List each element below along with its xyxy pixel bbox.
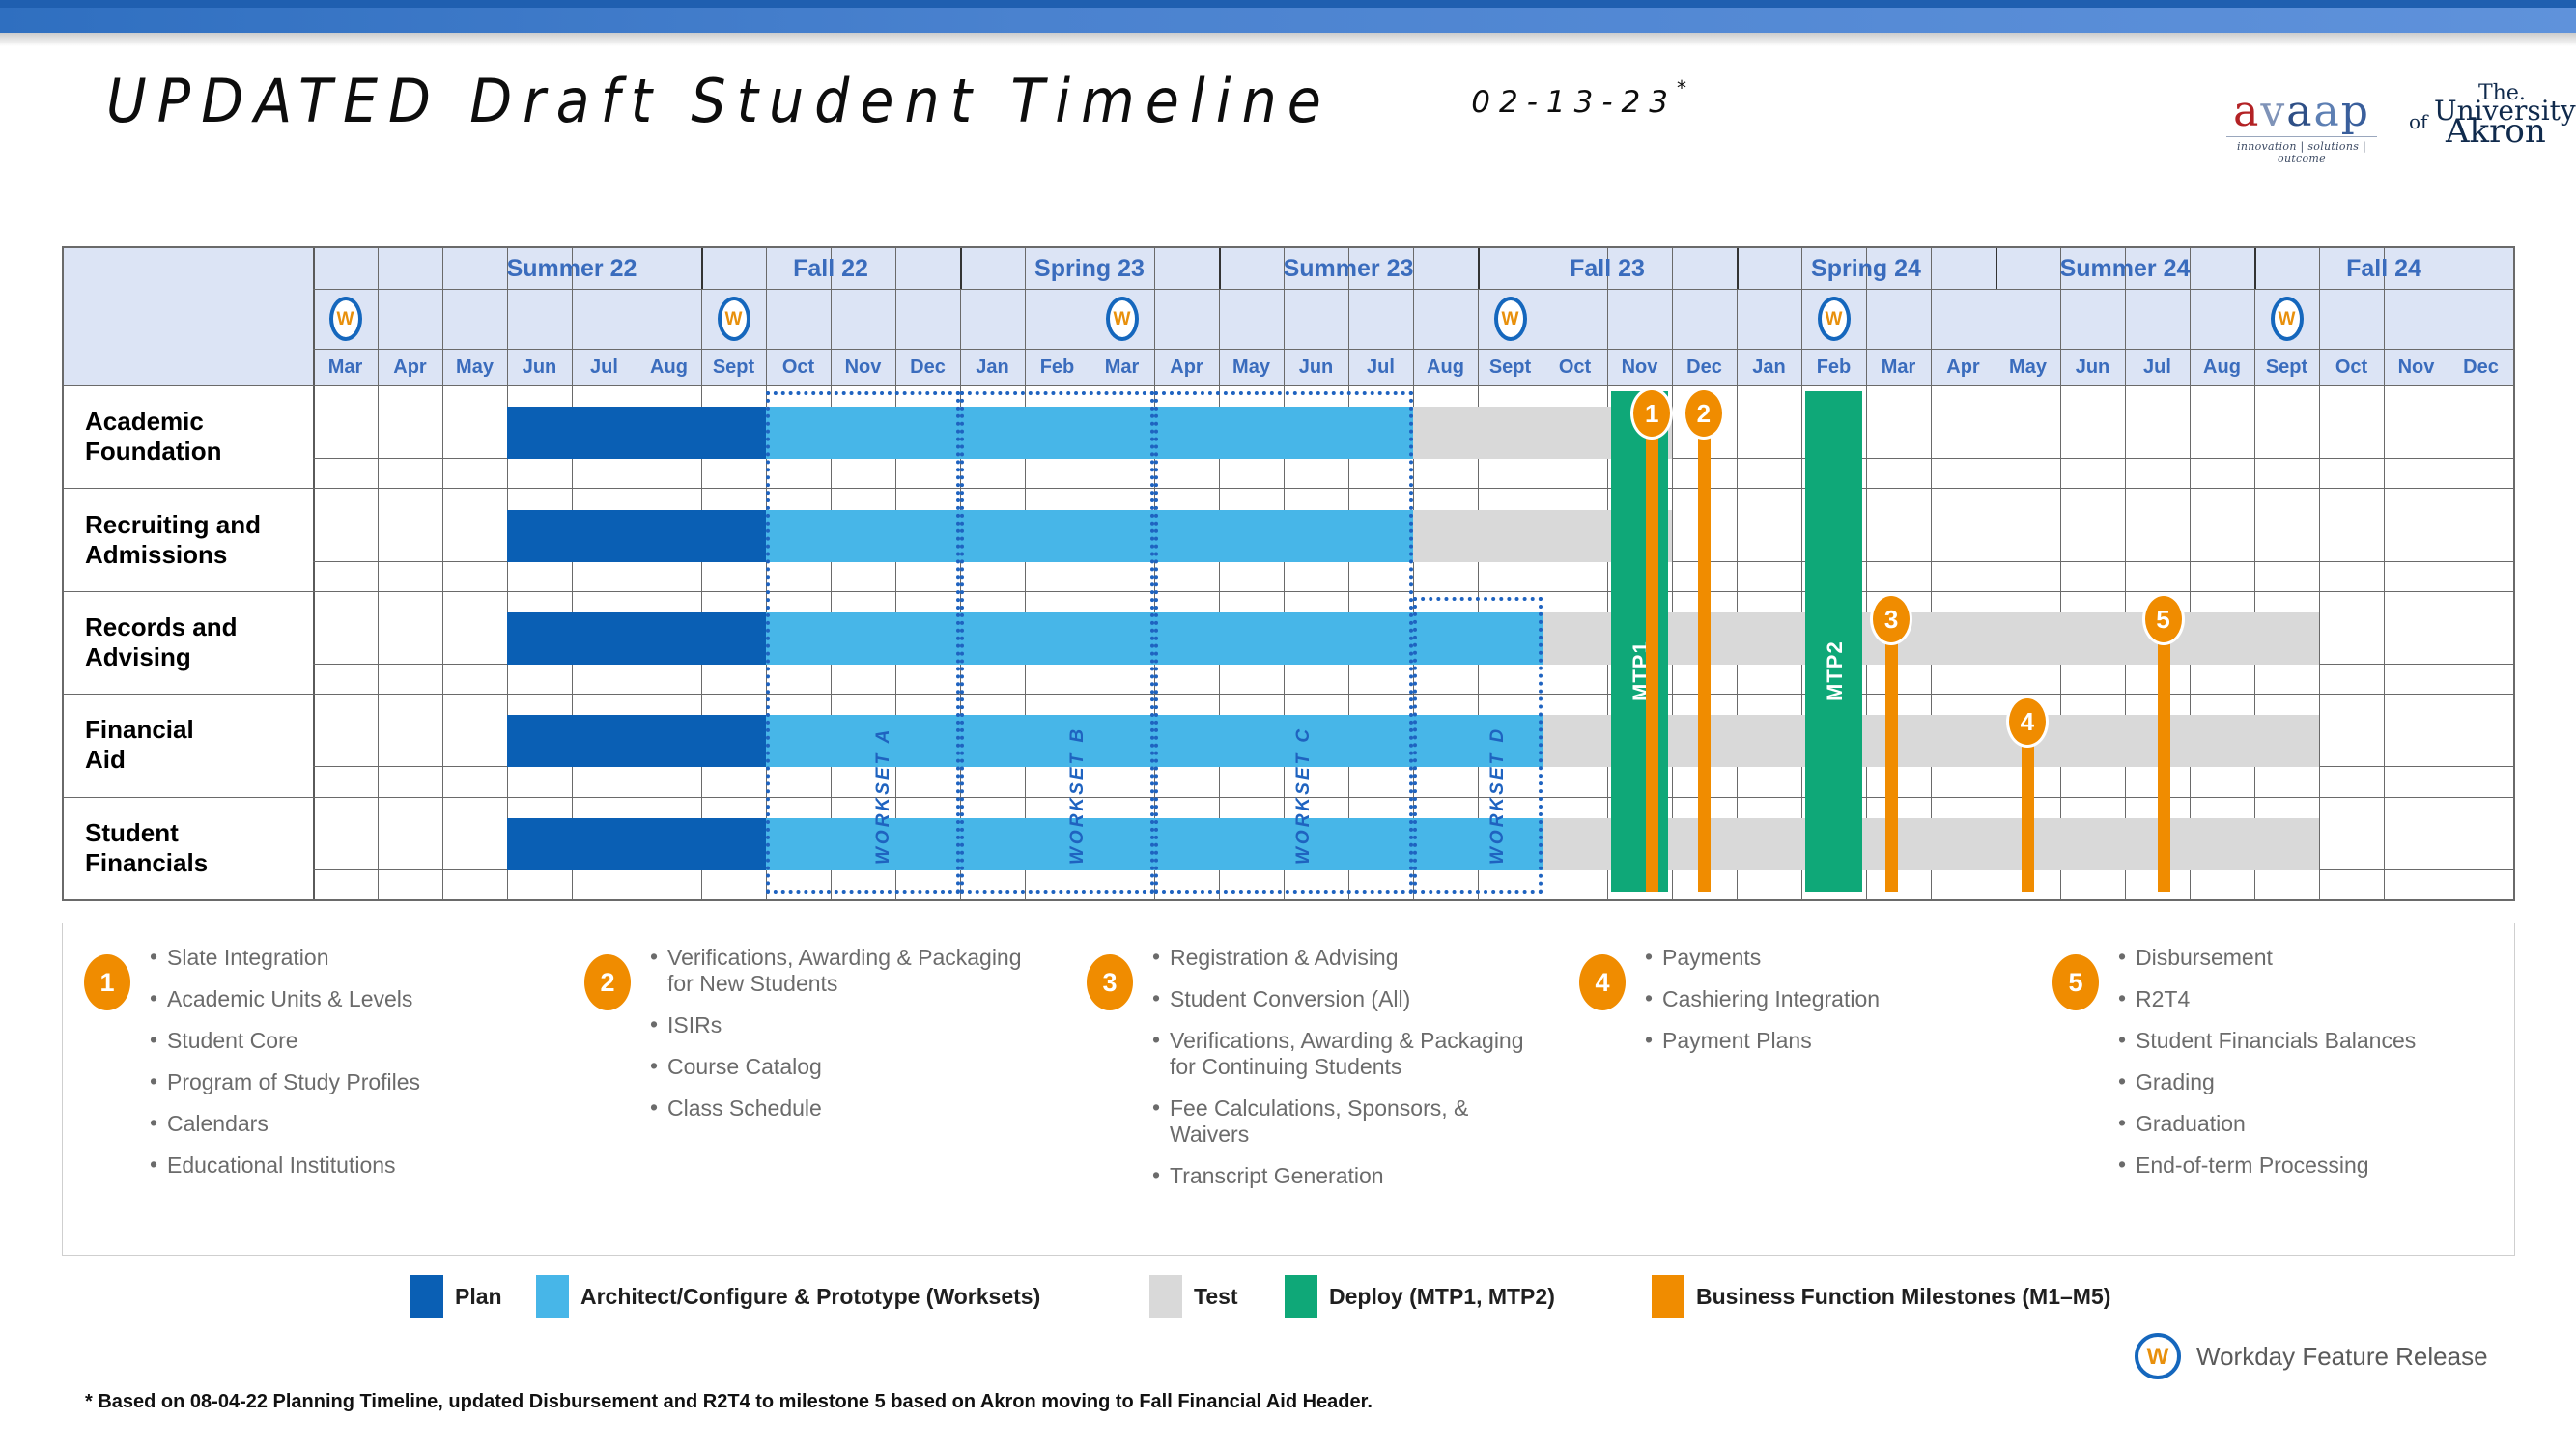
season-label-summer-22: Summer 22 (442, 249, 701, 288)
month-label-2: May (442, 351, 507, 384)
row-divider (64, 591, 2513, 592)
month-label-7: Oct (766, 351, 831, 384)
list-item: Payment Plans (1645, 1028, 1983, 1054)
workday-release-icon-feb-23: W (1818, 297, 1851, 341)
list-item: Course Catalog (650, 1054, 1027, 1080)
row-label-line2: Aid (85, 745, 313, 775)
milestone-marker-1[interactable]: 1 (1630, 387, 1673, 440)
row-label-records-and-advising: Records andAdvising (64, 591, 313, 694)
grid-line-vertical (2125, 248, 2126, 899)
grid-line-vertical (2319, 248, 2320, 899)
month-label-30: Sept (2254, 351, 2319, 384)
grid-line-vertical (960, 248, 961, 899)
grid-line-vertical (378, 248, 379, 899)
avaap-letter-p: p (2341, 87, 2370, 136)
month-label-33: Dec (2449, 351, 2513, 384)
list-item: Student Financials Balances (2118, 1028, 2456, 1054)
legend-item-business-function-milestones-m1-m5: Business Function Milestones (M1–M5) (1652, 1273, 2110, 1320)
title-date-value: 02-13-23 (1471, 85, 1677, 120)
grid-line-vertical (1413, 248, 1414, 899)
month-label-21: Dec (1672, 351, 1737, 384)
season-label-summer-23: Summer 23 (1219, 249, 1478, 288)
month-label-24: Mar (1866, 351, 1931, 384)
grid-line-vertical (1866, 248, 1867, 899)
list-item: Educational Institutions (150, 1152, 526, 1179)
season-label-spring-23: Spring 23 (960, 249, 1219, 288)
grid-line-vertical (637, 248, 637, 899)
season-label-fall-22: Fall 22 (701, 249, 960, 288)
akron-akron: Akron (2446, 112, 2546, 151)
legend-item-plan: Plan (410, 1273, 502, 1320)
legend-label: Architect/Configure & Prototype (Workset… (580, 1284, 1040, 1310)
list-item: Graduation (2118, 1111, 2456, 1137)
workday-release-icon: W (2135, 1333, 2181, 1379)
row-label-financial-aid: FinancialAid (64, 694, 313, 796)
month-label-11: Feb (1025, 351, 1090, 384)
grid-line-vertical (2190, 248, 2191, 899)
month-label-22: Jan (1737, 351, 1801, 384)
month-label-17: Aug (1413, 351, 1478, 384)
month-label-25: Apr (1931, 351, 1996, 384)
legend-item-test: Test (1149, 1273, 1238, 1320)
grid-line-vertical (1737, 248, 1738, 899)
grid-line-vertical (1931, 248, 1932, 899)
grid-line-vertical (701, 248, 702, 899)
workset-label-c: WORKSET C (1293, 726, 1315, 865)
month-label-8: Nov (831, 351, 895, 384)
milestone-detail-badge-5: 5 (2052, 954, 2099, 1010)
architect-bar-row-1 (766, 510, 1413, 562)
season-divider (960, 248, 962, 289)
avaap-tagline: innovation | solutions | outcome (2224, 140, 2379, 165)
workday-release-icon-mar-12: W (1106, 297, 1139, 341)
timeline-chart: Summer 22Fall 22Spring 23Summer 23Fall 2… (62, 246, 2515, 901)
milestone-bar-3 (1885, 620, 1898, 892)
month-label-15: Jun (1284, 351, 1348, 384)
season-divider (2254, 248, 2256, 289)
header-divider-0 (64, 289, 2513, 290)
month-label-13: Apr (1154, 351, 1219, 384)
row-label-line2: Advising (85, 642, 313, 672)
grid-line-vertical (1090, 248, 1090, 899)
season-label-fall-24: Fall 24 (2254, 249, 2513, 288)
milestone-bar-1 (1646, 414, 1658, 892)
row-divider (64, 899, 2513, 900)
month-label-29: Aug (2190, 351, 2254, 384)
list-item: End-of-term Processing (2118, 1152, 2456, 1179)
list-item: Transcript Generation (1152, 1163, 1529, 1189)
grid-line-vertical (1996, 248, 1996, 899)
workset-label-a: WORKSET A (873, 727, 894, 865)
row-label-line1: Records and (85, 612, 313, 642)
header-corner-mask-2 (64, 349, 313, 350)
architect-bar-row-0 (766, 407, 1413, 459)
workset-label-b: WORKSET B (1067, 726, 1089, 865)
milestone-marker-5[interactable]: 5 (2142, 593, 2185, 645)
workday-release-icon-mar-0: W (329, 297, 362, 341)
list-item: Registration & Advising (1152, 945, 1529, 971)
season-label-spring-24: Spring 24 (1737, 249, 1996, 288)
month-label-4: Jul (572, 351, 637, 384)
timeline-header-corner (64, 248, 313, 385)
month-label-5: Aug (637, 351, 701, 384)
grid-line-vertical (2449, 248, 2449, 899)
row-label-academic-foundation: AcademicFoundation (64, 385, 313, 488)
list-item: Cashiering Integration (1645, 986, 1983, 1012)
workday-release-icon-sept-30: W (2271, 297, 2304, 341)
month-label-6: Sept (701, 351, 766, 384)
season-divider (1478, 248, 1480, 289)
milestone-marker-3[interactable]: 3 (1870, 593, 1912, 645)
legend-label: Deploy (MTP1, MTP2) (1329, 1284, 1555, 1310)
month-label-27: Jun (2060, 351, 2125, 384)
grid-line-vertical (1672, 248, 1673, 899)
month-label-16: Jul (1348, 351, 1413, 384)
grid-line-vertical (2254, 248, 2255, 899)
month-label-0: Mar (313, 351, 378, 384)
legend-item-deploy-mtp1-mtp2: Deploy (MTP1, MTP2) (1285, 1273, 1555, 1320)
milestone-detail-list-2: Verifications, Awarding & Packaging for … (650, 945, 1027, 1137)
month-label-14: May (1219, 351, 1284, 384)
grid-line-vertical (895, 248, 896, 899)
row-divider (64, 694, 2513, 695)
workset-label-d: WORKSET D (1487, 726, 1509, 865)
university-of-akron-logo: The. of University Akron (2407, 83, 2552, 151)
grid-line-vertical (507, 248, 508, 899)
legend-label: Test (1194, 1284, 1238, 1310)
avaap-divider (2226, 136, 2377, 137)
plan-bar-row-2 (507, 612, 766, 665)
footnote: * Based on 08-04-22 Planning Timeline, u… (85, 1391, 1373, 1413)
row-divider (64, 488, 2513, 489)
list-item: Calendars (150, 1111, 526, 1137)
row-divider (64, 797, 2513, 798)
grid-line-vertical (1154, 248, 1155, 899)
list-item: ISIRs (650, 1012, 1027, 1038)
list-item: Student Conversion (All) (1152, 986, 1529, 1012)
grid-line-vertical (572, 248, 573, 899)
month-label-31: Oct (2319, 351, 2384, 384)
list-item: Verifications, Awarding & Packaging for … (650, 945, 1027, 997)
milestone-detail-list-1: Slate IntegrationAcademic Units & Levels… (150, 945, 526, 1194)
list-item: Slate Integration (150, 945, 526, 971)
avaap-wordmark: avaap (2224, 91, 2379, 133)
row-label-line2: Foundation (85, 437, 313, 467)
grid-line-vertical (831, 248, 832, 899)
grid-line-vertical (1348, 248, 1349, 899)
milestone-marker-4[interactable]: 4 (2006, 696, 2049, 748)
milestone-bar-5 (2158, 620, 2170, 892)
list-item: Verifications, Awarding & Packaging for … (1152, 1028, 1529, 1080)
plan-bar-row-0 (507, 407, 766, 459)
milestone-bar-2 (1698, 414, 1711, 892)
grid-line-vertical (2384, 248, 2385, 899)
milestone-detail-list-4: PaymentsCashiering IntegrationPayment Pl… (1645, 945, 1983, 1069)
milestone-details-panel: 1Slate IntegrationAcademic Units & Level… (62, 923, 2515, 1256)
legend-swatch (1285, 1275, 1317, 1318)
legend-swatch (410, 1275, 443, 1318)
grid-line-vertical (1607, 248, 1608, 899)
grid-line-vertical (2513, 248, 2514, 899)
row-label-student-financials: StudentFinancials (64, 797, 313, 899)
milestone-detail-list-3: Registration & AdvisingStudent Conversio… (1152, 945, 1529, 1205)
avaap-letter-v: v (2260, 87, 2286, 136)
season-divider (1737, 248, 1739, 289)
milestone-marker-2[interactable]: 2 (1683, 387, 1725, 440)
grid-line-vertical (1478, 248, 1479, 899)
season-label-summer-24: Summer 24 (1996, 249, 2254, 288)
list-item: Student Core (150, 1028, 526, 1054)
plan-bar-row-3 (507, 715, 766, 767)
row-label-line1: Financial (85, 715, 313, 745)
legend-bar: PlanArchitect/Configure & Prototype (Wor… (0, 1273, 2576, 1321)
grid-line-vertical (1284, 248, 1285, 899)
legend-item-architect-configure-prototype-worksets: Architect/Configure & Prototype (Workset… (536, 1273, 1040, 1320)
milestone-detail-badge-2: 2 (584, 954, 631, 1010)
architect-bar-row-2 (766, 612, 1543, 665)
grid-line-vertical (2060, 248, 2061, 899)
grid-line-vertical (1025, 248, 1026, 899)
workday-release-label: Workday Feature Release (2196, 1342, 2488, 1372)
legend-label: Business Function Milestones (M1–M5) (1696, 1284, 2110, 1310)
legend-swatch (1652, 1275, 1684, 1318)
title-block: UPDATED Draft Student Timeline02-13-23* (106, 66, 2038, 153)
plan-bar-row-1 (507, 510, 766, 562)
avaap-letter-a1: a (2233, 87, 2260, 136)
season-divider (1219, 248, 1221, 289)
legend-label: Plan (455, 1284, 502, 1310)
milestone-detail-badge-4: 4 (1579, 954, 1626, 1010)
month-label-20: Nov (1607, 351, 1672, 384)
month-label-28: Jul (2125, 351, 2190, 384)
season-divider (1996, 248, 1997, 289)
season-divider (701, 248, 703, 289)
row-label-line1: Student (85, 818, 313, 848)
month-label-32: Nov (2384, 351, 2449, 384)
legend-swatch (536, 1275, 569, 1318)
top-shadow (0, 33, 2576, 46)
milestone-detail-list-5: DisbursementR2T4Student Financials Balan… (2118, 945, 2456, 1194)
grid-line-vertical (442, 248, 443, 899)
season-label-fall-23: Fall 23 (1478, 249, 1737, 288)
row-label-recruiting-and-admissions: Recruiting andAdmissions (64, 488, 313, 590)
list-item: Fee Calculations, Sponsors, & Waivers (1152, 1095, 1529, 1148)
month-label-3: Jun (507, 351, 572, 384)
month-label-19: Oct (1543, 351, 1607, 384)
row-label-line1: Academic (85, 407, 313, 437)
list-item: Disbursement (2118, 945, 2456, 971)
title-asterisk: * (1677, 76, 1695, 99)
grid-line-vertical (1801, 248, 1802, 899)
grid-line-vertical (766, 248, 767, 899)
header-divider-2 (64, 385, 2513, 386)
row-label-line2: Admissions (85, 540, 313, 570)
month-label-9: Dec (895, 351, 960, 384)
workday-release-icon-sept-6: W (718, 297, 750, 341)
header-divider-1 (64, 349, 2513, 350)
milestone-detail-badge-1: 1 (84, 954, 130, 1010)
row-label-line2: Financials (85, 848, 313, 878)
plan-bar-row-4 (507, 818, 766, 870)
list-item: Class Schedule (650, 1095, 1027, 1122)
month-label-18: Sept (1478, 351, 1543, 384)
list-item: Program of Study Profiles (150, 1069, 526, 1095)
month-label-1: Apr (378, 351, 442, 384)
grid-line-vertical (1219, 248, 1220, 899)
month-label-10: Jan (960, 351, 1025, 384)
workday-feature-release-legend: W Workday Feature Release (2135, 1333, 2488, 1379)
page-title: UPDATED Draft Student Timeline (106, 66, 1332, 136)
header-corner-mask-1 (64, 289, 313, 290)
avaap-letter-a3: a (2313, 87, 2340, 136)
milestone-detail-badge-3: 3 (1087, 954, 1133, 1010)
list-item: Academic Units & Levels (150, 986, 526, 1012)
grid-line-vertical (1543, 248, 1543, 899)
title-date: 02-13-23* (1471, 76, 1695, 120)
workday-release-icon-sept-18: W (1494, 297, 1527, 341)
row-label-line1: Recruiting and (85, 510, 313, 540)
list-item: Grading (2118, 1069, 2456, 1095)
top-accent-bar (0, 0, 2576, 8)
label-column-border (313, 248, 315, 899)
avaap-letter-a2: a (2286, 87, 2313, 136)
legend-swatch (1149, 1275, 1182, 1318)
milestone-bar-4 (2022, 723, 2034, 892)
month-label-26: May (1996, 351, 2060, 384)
list-item: R2T4 (2118, 986, 2456, 1012)
akron-of: of (2409, 110, 2427, 133)
list-item: Payments (1645, 945, 1983, 971)
deploy-label-mtp2: MTP2 (1823, 640, 1848, 701)
month-label-12: Mar (1090, 351, 1154, 384)
avaap-logo: avaap innovation | solutions | outcome (2224, 91, 2379, 165)
top-gradient-bar (0, 8, 2576, 33)
month-label-23: Feb (1801, 351, 1866, 384)
